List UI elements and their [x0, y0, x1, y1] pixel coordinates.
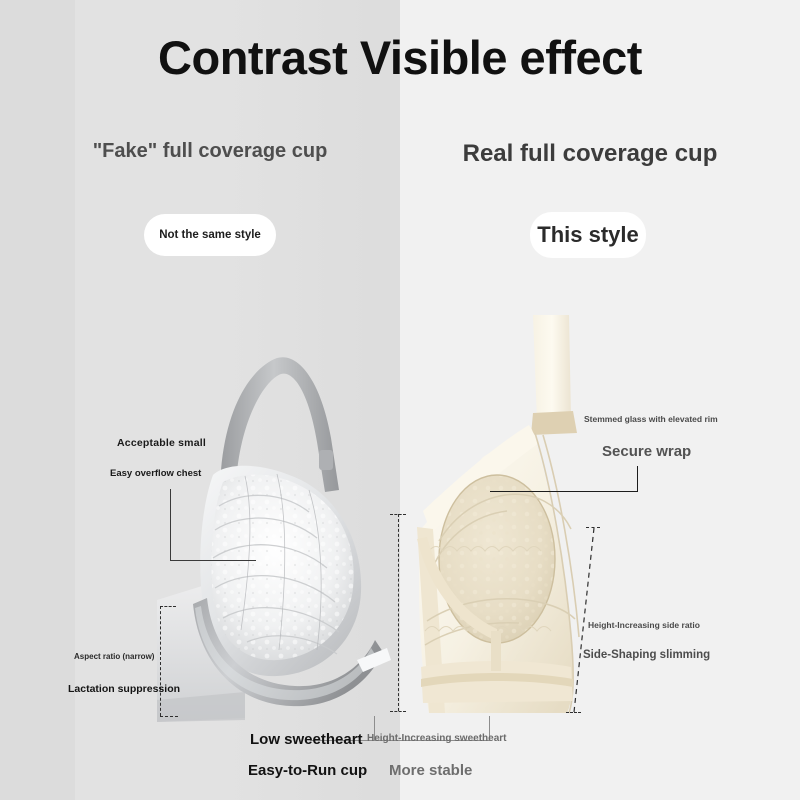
bracket-right-top-tick: [390, 514, 406, 515]
leader-line-left-vertical: [170, 489, 171, 561]
annotation-low-sweetheart: Low sweetheart: [250, 731, 363, 748]
annotation-acceptable-small: Acceptable small: [117, 437, 206, 449]
annotation-easy-overflow-chest: Easy overflow chest: [110, 468, 201, 479]
bracket-left-top-tick: [160, 606, 176, 607]
left-column-subtitle: "Fake" full coverage cup: [60, 140, 360, 163]
badge-not-the-same-style-label: Not the same style: [159, 229, 261, 241]
bracket-left-bottom-tick: [160, 716, 178, 717]
annotation-lactation-suppression: Lactation suppression: [68, 683, 180, 695]
badge-this-style[interactable]: This style: [530, 212, 646, 258]
bracket-right-bottom-tick: [390, 711, 406, 712]
page-title: Contrast Visible effect: [0, 26, 800, 90]
bracket-right-vertical: [398, 514, 399, 711]
annotation-easy-to-run-cup: Easy-to-Run cup: [248, 762, 367, 779]
annotation-more-stable: More stable: [389, 762, 472, 779]
annotation-secure-wrap: Secure wrap: [602, 443, 691, 460]
annotation-aspect-ratio-narrow: Aspect ratio (narrow): [74, 652, 154, 661]
annotation-stemmed-glass: Stemmed glass with elevated rim: [584, 414, 718, 424]
right-column-subtitle: Real full coverage cup: [430, 140, 750, 168]
leader-line-secure-wrap-horizontal: [490, 491, 638, 492]
product-image-real-cup: [393, 315, 608, 720]
bracket-tilt-bottom-tick: [566, 712, 581, 713]
leader-line-left-horizontal: [170, 560, 256, 561]
product-image-fake-cup: [95, 330, 395, 730]
badge-this-style-label: This style: [537, 222, 638, 248]
comparison-infographic: Contrast Visible effect "Fake" full cove…: [0, 0, 800, 800]
bracket-tilt-top-tick: [586, 527, 600, 528]
leader-line-secure-wrap-vertical: [637, 466, 638, 492]
annotation-height-increasing-sweetheart: Height-Increasing sweetheart: [367, 733, 506, 744]
annotation-side-shaping-slimming: Side-Shaping slimming: [583, 649, 710, 661]
annotation-height-increasing-side-ratio: Height-Increasing side ratio: [588, 620, 700, 630]
bracket-left-vertical: [160, 606, 161, 716]
badge-not-the-same-style[interactable]: Not the same style: [144, 214, 276, 256]
